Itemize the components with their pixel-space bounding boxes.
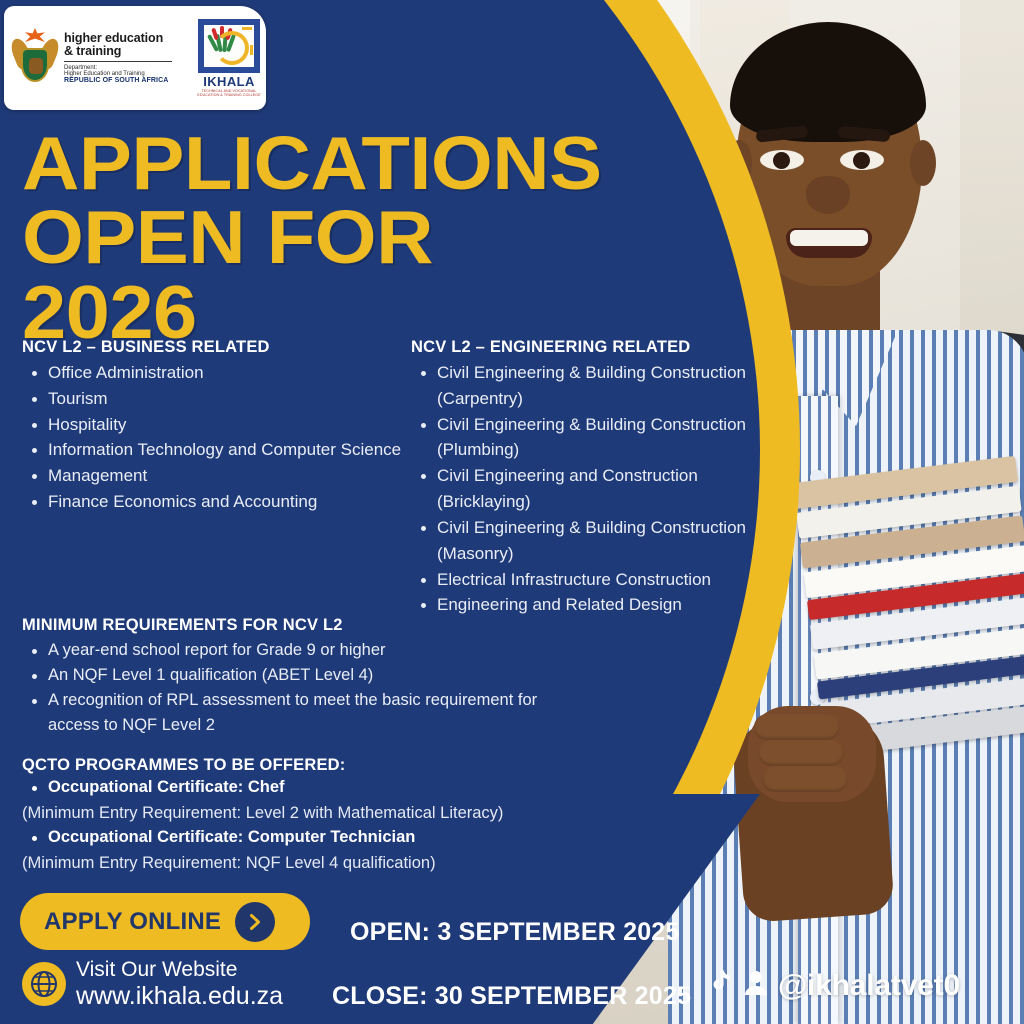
apply-online-label: APPLY ONLINE: [44, 908, 221, 936]
divider-rule: [64, 61, 172, 62]
page-title: APPLICATIONS OPEN FOR 2026: [22, 126, 616, 349]
ikhala-aloe-sun-icon: [198, 19, 260, 73]
list-item: Engineering and Related Design: [437, 592, 786, 618]
poster-canvas: higher education & training Department: …: [0, 0, 1024, 1024]
department-text-block: higher education & training Department: …: [64, 32, 172, 84]
list-item: Management: [48, 463, 402, 489]
qcto-programme-name: Occupational Certificate: Computer Techn…: [48, 825, 642, 851]
mouth: [786, 228, 872, 258]
ikhala-logo: IKHALA TECHNICAL AND VOCATIONAL EDUCATIO…: [192, 19, 266, 98]
close-date: CLOSE: 30 SEPTEMBER 2025: [332, 982, 691, 1011]
headline-line-2: OPEN FOR 2026: [22, 200, 616, 349]
list-item: Civil Engineering & Building Constructio…: [437, 360, 786, 412]
business-programmes-column: NCV L2 – BUSINESS RELATED Office Adminis…: [22, 338, 402, 515]
chevron-right-icon: [235, 902, 275, 942]
apply-online-button[interactable]: APPLY ONLINE: [20, 893, 310, 950]
social-handle: @ikhalatvet0: [778, 969, 960, 1003]
eye-right: [840, 150, 884, 170]
engineering-programmes-column: NCV L2 – ENGINEERING RELATED Civil Engin…: [411, 338, 786, 618]
requirements-list: A year-end school report for Grade 9 or …: [22, 638, 542, 738]
website-text: Visit Our Website www.ikhala.edu.za: [76, 958, 283, 1010]
minimum-requirements-block: MINIMUM REQUIREMENTS FOR NCV L2 A year-e…: [22, 616, 542, 738]
headline-line-1: APPLICATIONS: [22, 126, 616, 200]
list-item: An NQF Level 1 qualification (ABET Level…: [48, 663, 542, 688]
department-title-line2: & training: [64, 45, 172, 58]
open-date: OPEN: 3 SEPTEMBER 2025: [350, 918, 680, 947]
qcto-heading: QCTO PROGRAMMES TO BE OFFERED:: [22, 756, 642, 775]
list-item: Civil Engineering & Building Constructio…: [437, 515, 786, 567]
requirements-heading: MINIMUM REQUIREMENTS FOR NCV L2: [22, 616, 542, 635]
hand: [748, 706, 876, 802]
country-label: REPUBLIC OF SOUTH AFRICA: [64, 77, 172, 84]
logo-card: higher education & training Department: …: [4, 6, 266, 110]
qcto-programme-note: (Minimum Entry Requirement: Level 2 with…: [22, 801, 642, 826]
list-item: Hospitality: [48, 412, 402, 438]
eye-left: [760, 150, 804, 170]
engineering-column-heading: NCV L2 – ENGINEERING RELATED: [411, 338, 786, 357]
list-item: Civil Engineering and Construction (Bric…: [437, 463, 786, 515]
social-handle-block[interactable]: @ikhalatvet0: [706, 968, 960, 1003]
department-title-line1: higher education: [64, 32, 172, 45]
list-item: Finance Economics and Accounting: [48, 489, 402, 515]
ikhala-tagline: TECHNICAL AND VOCATIONAL EDUCATION & TRA…: [192, 89, 266, 98]
list-item: Information Technology and Computer Scie…: [48, 437, 402, 463]
south-africa-coat-of-arms-icon: [12, 28, 58, 88]
business-column-heading: NCV L2 – BUSINESS RELATED: [22, 338, 402, 357]
qcto-programme-note: (Minimum Entry Requirement: NQF Level 4 …: [22, 851, 642, 876]
qcto-programmes-block: QCTO PROGRAMMES TO BE OFFERED: Occupatio…: [22, 756, 642, 876]
website-prompt: Visit Our Website: [76, 958, 283, 982]
list-item: Civil Engineering & Building Constructio…: [437, 412, 786, 464]
website-url: www.ikhala.edu.za: [76, 982, 283, 1010]
tiktok-icon: [706, 968, 734, 1003]
ikhala-wordmark: IKHALA: [192, 74, 266, 89]
ear-right: [910, 140, 936, 186]
hair: [730, 22, 926, 142]
website-block[interactable]: Visit Our Website www.ikhala.edu.za: [22, 958, 283, 1010]
list-item: Office Administration: [48, 360, 402, 386]
list-item: Electrical Infrastructure Construction: [437, 567, 786, 593]
person-icon: [742, 968, 770, 1003]
list-item: A year-end school report for Grade 9 or …: [48, 638, 542, 663]
business-programme-list: Office Administration Tourism Hospitalit…: [22, 360, 402, 515]
nose: [806, 176, 850, 214]
qcto-programme-name: Occupational Certificate: Chef: [48, 775, 642, 801]
globe-icon: [22, 962, 66, 1006]
engineering-programme-list: Civil Engineering & Building Constructio…: [411, 360, 786, 618]
list-item: Tourism: [48, 386, 402, 412]
list-item: A recognition of RPL assessment to meet …: [48, 688, 542, 738]
